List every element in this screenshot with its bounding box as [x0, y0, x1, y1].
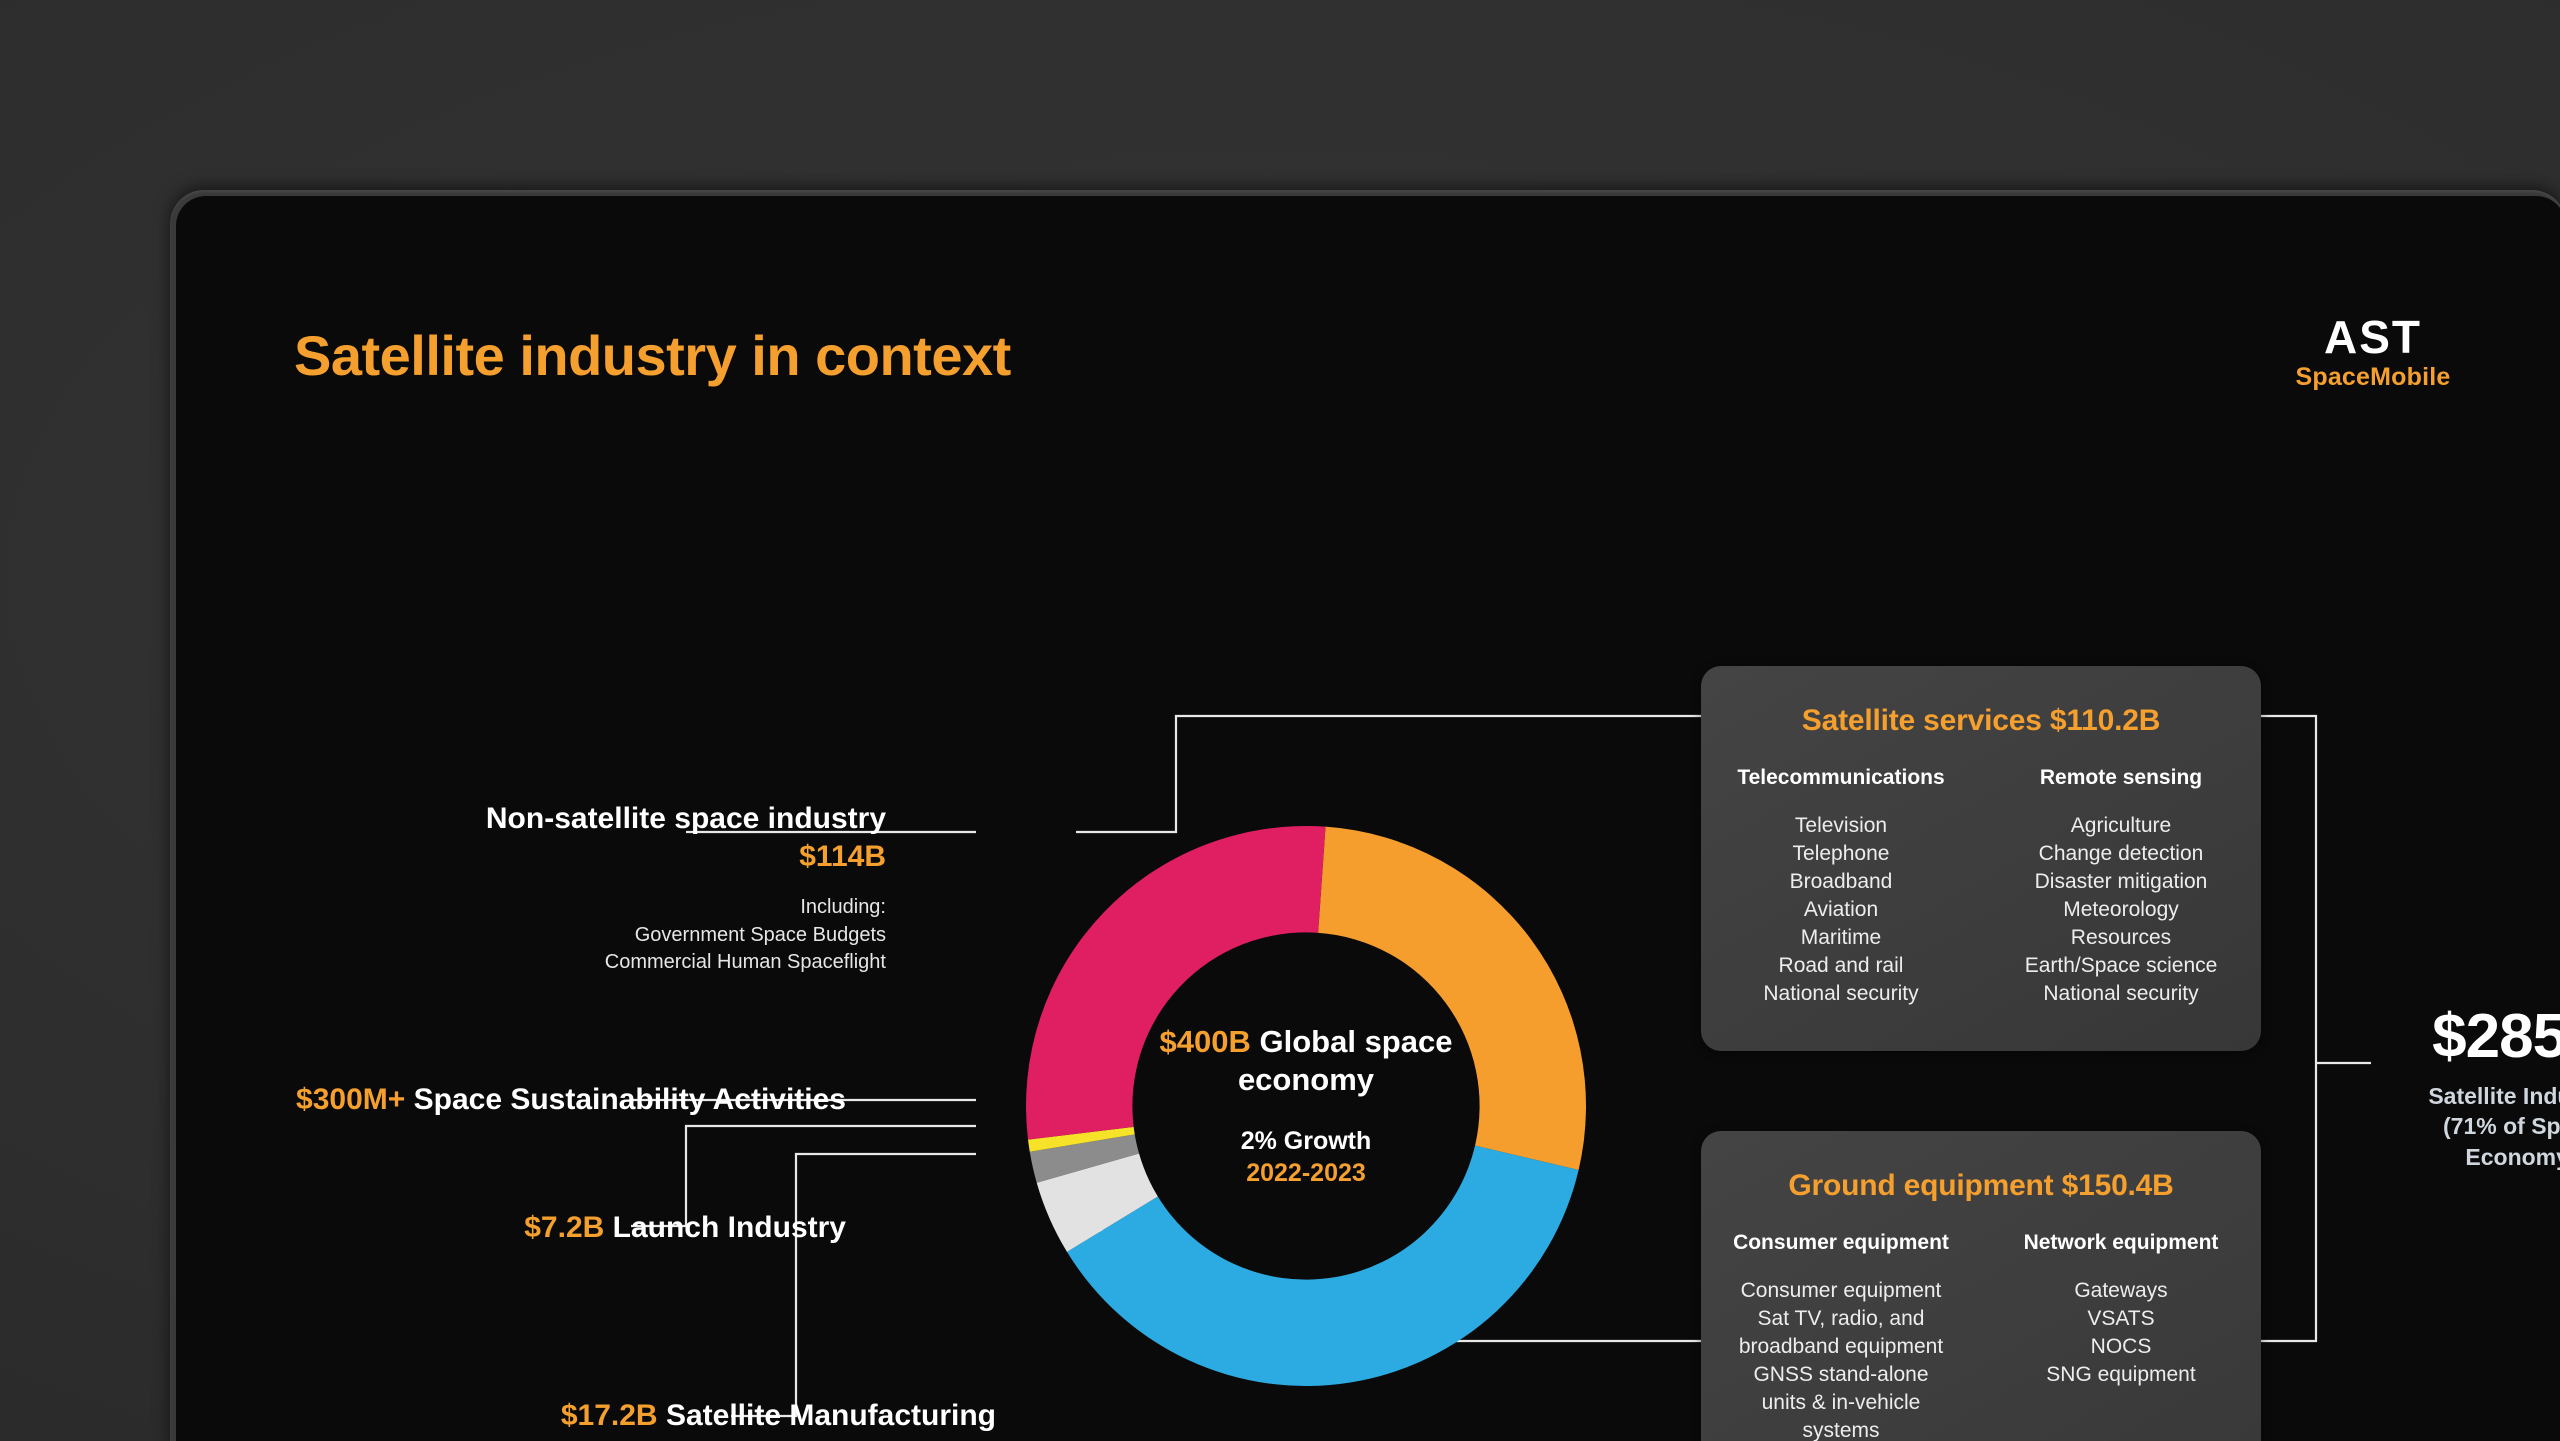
column-telecommunications-items: Television Telephone Broadband Aviation … [1707, 812, 1975, 1007]
logo-spacemobile-text: SpaceMobile [2268, 365, 2478, 390]
donut-center-text: Global space economy [1238, 1024, 1453, 1097]
donut-center-amount: $400B [1160, 1024, 1251, 1059]
callout-non-satellite: Non-satellite space industry $114B [296, 800, 886, 875]
card-satellite-services-columns: Telecommunications Television Telephone … [1701, 766, 2261, 1007]
column-network-equipment-heading: Network equipment [1987, 1231, 2255, 1255]
column-remote-sensing-heading: Remote sensing [1987, 766, 2255, 790]
column-remote-sensing: Remote sensing Agriculture Change detect… [1981, 766, 2261, 1007]
callout-launch-name: Launch Industry [613, 1211, 846, 1244]
donut-growth: 2% Growth [1141, 1126, 1471, 1157]
card-ground-equipment: Ground equipment $150.4B Consumer equipm… [1701, 1131, 2261, 1441]
callout-sustainability: $300M+ Space Sustainability Activities [296, 1081, 846, 1119]
logo-ast-text: AST [2268, 314, 2478, 360]
donut-center-main: $400B Global space economy [1141, 1023, 1471, 1099]
network-equipment-item-list: Gateways VSATS NOCS SNG equipment [1987, 1277, 2255, 1389]
ast-spacemobile-logo: AST SpaceMobile [2268, 314, 2478, 390]
slide-screen: Satellite industry in context AST SpaceM… [176, 196, 2560, 1441]
total-amount: $285B [2371, 1006, 2560, 1068]
page-title: Satellite industry in context [294, 323, 1011, 388]
column-consumer-equipment-items: Consumer equipment Sat TV, radio, and br… [1707, 1277, 1975, 1441]
card-satellite-services: Satellite services $110.2B Telecommunica… [1701, 666, 2261, 1051]
donut-chart: $400B Global space economy 2% Growth 202… [956, 756, 1656, 1441]
callout-launch-amount: $7.2B [524, 1211, 604, 1244]
donut-years: 2022-2023 [1141, 1158, 1471, 1189]
satellite-industry-total: $285B Satellite Industry (71% of Space E… [2371, 1006, 2560, 1172]
column-remote-sensing-items: Agriculture Change detection Disaster mi… [1987, 812, 2255, 1007]
callout-non-satellite-including: Including: Government Space Budgets Comm… [296, 894, 886, 977]
remote-sensing-item-list: Agriculture Change detection Disaster mi… [1987, 812, 2255, 1007]
callout-manufacturing-amount: $17.2B [561, 1399, 658, 1432]
card-ground-equipment-columns: Consumer equipment Consumer equipment Sa… [1701, 1231, 2261, 1441]
callout-non-satellite-name: Non-satellite space industry [486, 802, 886, 835]
column-network-equipment: Network equipment Gateways VSATS NOCS SN… [1981, 1231, 2261, 1441]
callout-sustainability-name: Space Sustainability Activities [414, 1083, 846, 1116]
total-description: Satellite Industry (71% of Space Economy… [2371, 1081, 2560, 1172]
column-consumer-equipment-heading: Consumer equipment [1707, 1231, 1975, 1255]
column-telecommunications: Telecommunications Television Telephone … [1701, 766, 1981, 1007]
column-telecommunications-heading: Telecommunications [1707, 766, 1975, 790]
donut-center-label: $400B Global space economy 2% Growth 202… [1141, 1023, 1471, 1189]
callout-manufacturing-name: Satellite Manufacturing [666, 1399, 996, 1432]
column-consumer-equipment: Consumer equipment Consumer equipment Sa… [1701, 1231, 1981, 1441]
card-ground-equipment-title: Ground equipment $150.4B [1701, 1131, 2261, 1203]
column-network-equipment-items: Gateways VSATS NOCS SNG equipment [1987, 1277, 2255, 1389]
screenshot-root: Satellite industry in context AST SpaceM… [0, 0, 2560, 1441]
callout-launch: $7.2B Launch Industry [296, 1209, 846, 1247]
callout-manufacturing: $17.2B Satellite Manufacturing [456, 1396, 996, 1436]
callout-non-satellite-amount: $114B [799, 840, 886, 873]
card-satellite-services-title: Satellite services $110.2B [1701, 666, 2261, 738]
telecommunications-item-list: Television Telephone Broadband Aviation … [1707, 812, 1975, 1007]
callout-sustainability-amount: $300M+ [296, 1083, 405, 1116]
consumer-equipment-item-list: Consumer equipment Sat TV, radio, and br… [1707, 1277, 1975, 1441]
